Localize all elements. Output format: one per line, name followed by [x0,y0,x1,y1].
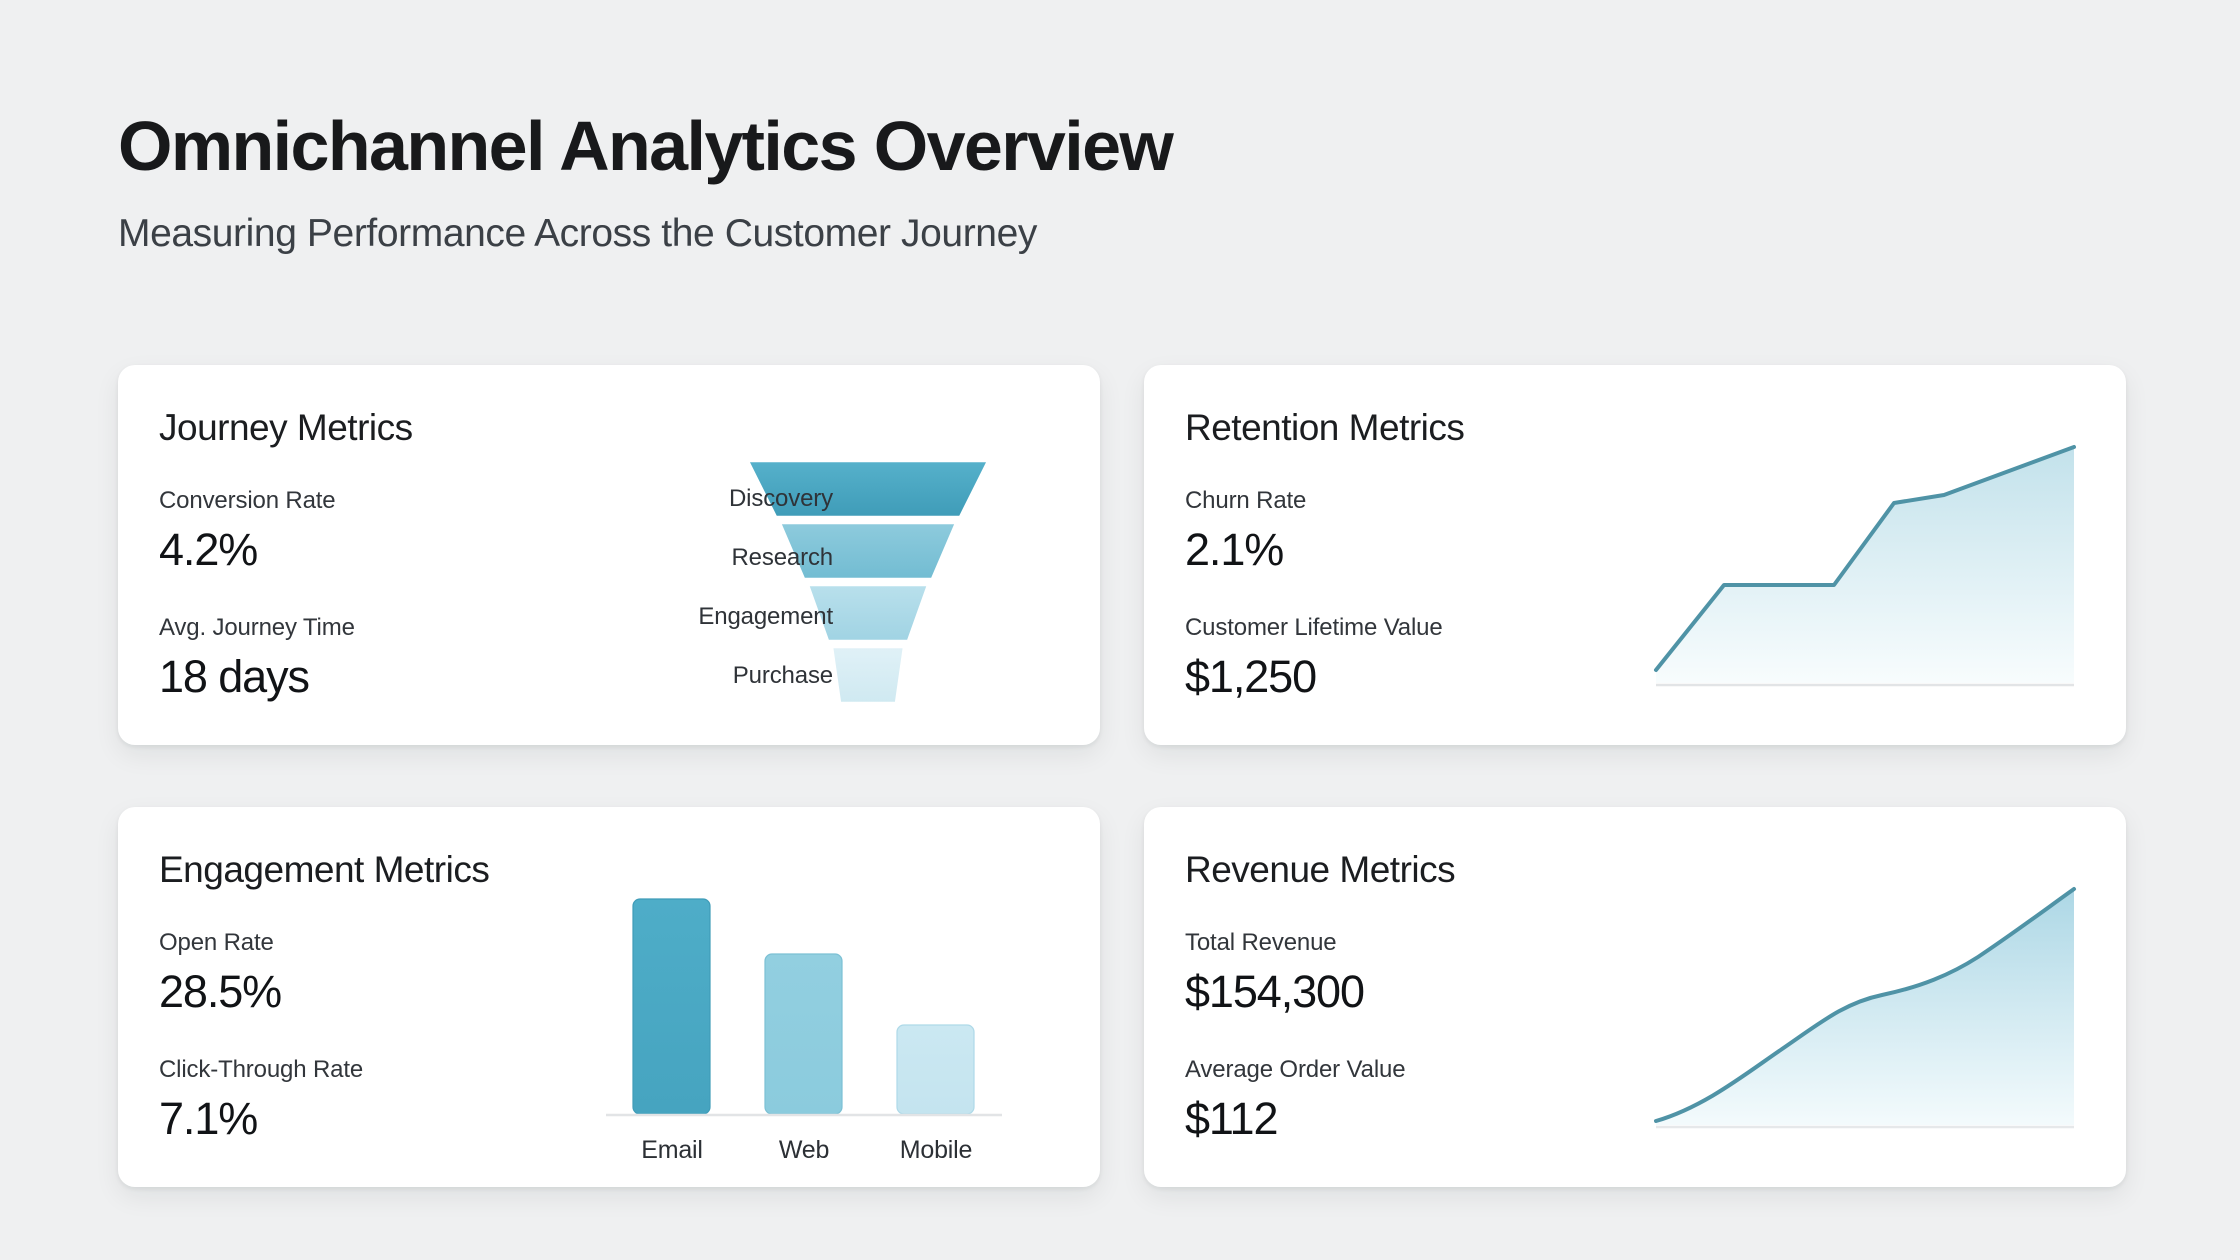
funnel-stage-labels: Discovery Research Engagement Purchase [588,469,833,705]
page-header: Omnichannel Analytics Overview Measuring… [118,110,1172,256]
metric-label: Conversion Rate [159,487,579,515]
bar-mobile [897,1025,974,1114]
metric-value: $1,250 [1185,651,1605,703]
engagement-metrics-list: Open Rate 28.5% Click-Through Rate 7.1% [159,929,579,1145]
funnel-label-purchase: Purchase [588,646,833,705]
bar-label-web: Web [738,1136,870,1165]
metric-label: Total Revenue [1185,929,1605,957]
card-title-revenue: Revenue Metrics [1185,849,1455,891]
funnel-chart[interactable]: Discovery Research Engagement Purchase [588,365,1076,745]
metrics-card-grid: Journey Metrics Conversion Rate 4.2% Avg… [118,365,2126,1190]
metric-open-rate: Open Rate 28.5% [159,929,579,1018]
metric-label: Churn Rate [1185,487,1605,515]
journey-metrics-list: Conversion Rate 4.2% Avg. Journey Time 1… [159,487,579,703]
card-title-journey: Journey Metrics [159,407,413,449]
card-retention-metrics[interactable]: Retention Metrics Churn Rate 2.1% Custom… [1144,365,2126,745]
card-engagement-metrics[interactable]: Engagement Metrics Open Rate 28.5% Click… [118,807,1100,1187]
card-title-retention: Retention Metrics [1185,407,1464,449]
funnel-segment-purchase [832,647,904,703]
metric-value: $154,300 [1185,966,1605,1018]
retention-area-chart[interactable] [1634,365,2102,745]
funnel-label-discovery: Discovery [588,469,833,528]
metric-customer-lifetime-value: Customer Lifetime Value $1,250 [1185,614,1605,703]
bar-category-labels: Email Web Mobile [606,1136,1002,1165]
bar-label-mobile: Mobile [870,1136,1002,1165]
metric-label: Click-Through Rate [159,1056,579,1084]
page-subtitle: Measuring Performance Across the Custome… [118,212,1172,256]
metric-click-through-rate: Click-Through Rate 7.1% [159,1056,579,1145]
metric-churn-rate: Churn Rate 2.1% [1185,487,1605,576]
retention-area-svg [1634,365,2102,745]
metric-value: $112 [1185,1093,1605,1145]
retention-area-fill [1656,447,2074,683]
metric-value: 28.5% [159,966,579,1018]
bar-web [765,954,842,1114]
metric-value: 18 days [159,651,579,703]
revenue-area-svg [1634,807,2102,1187]
engagement-bar-svg [588,807,1066,1187]
engagement-bar-chart[interactable]: Email Web Mobile [588,807,1066,1187]
card-title-engagement: Engagement Metrics [159,849,489,891]
metric-avg-journey-time: Avg. Journey Time 18 days [159,614,579,703]
revenue-metrics-list: Total Revenue $154,300 Average Order Val… [1185,929,1605,1145]
funnel-label-engagement: Engagement [588,587,833,646]
funnel-label-research: Research [588,528,833,587]
revenue-area-fill [1656,889,2074,1125]
card-journey-metrics[interactable]: Journey Metrics Conversion Rate 4.2% Avg… [118,365,1100,745]
card-revenue-metrics[interactable]: Revenue Metrics Total Revenue $154,300 A… [1144,807,2126,1187]
dashboard-page: Omnichannel Analytics Overview Measuring… [0,0,2240,1260]
metric-label: Avg. Journey Time [159,614,579,642]
metric-total-revenue: Total Revenue $154,300 [1185,929,1605,1018]
metric-value: 7.1% [159,1093,579,1145]
metric-label: Customer Lifetime Value [1185,614,1605,642]
metric-conversion-rate: Conversion Rate 4.2% [159,487,579,576]
revenue-area-chart[interactable] [1634,807,2102,1187]
metric-label: Open Rate [159,929,579,957]
retention-metrics-list: Churn Rate 2.1% Customer Lifetime Value … [1185,487,1605,703]
bar-label-email: Email [606,1136,738,1165]
bar-email [633,899,710,1114]
page-title: Omnichannel Analytics Overview [118,110,1172,184]
metric-value: 4.2% [159,524,579,576]
metric-value: 2.1% [1185,524,1605,576]
metric-average-order-value: Average Order Value $112 [1185,1056,1605,1145]
metric-label: Average Order Value [1185,1056,1605,1084]
